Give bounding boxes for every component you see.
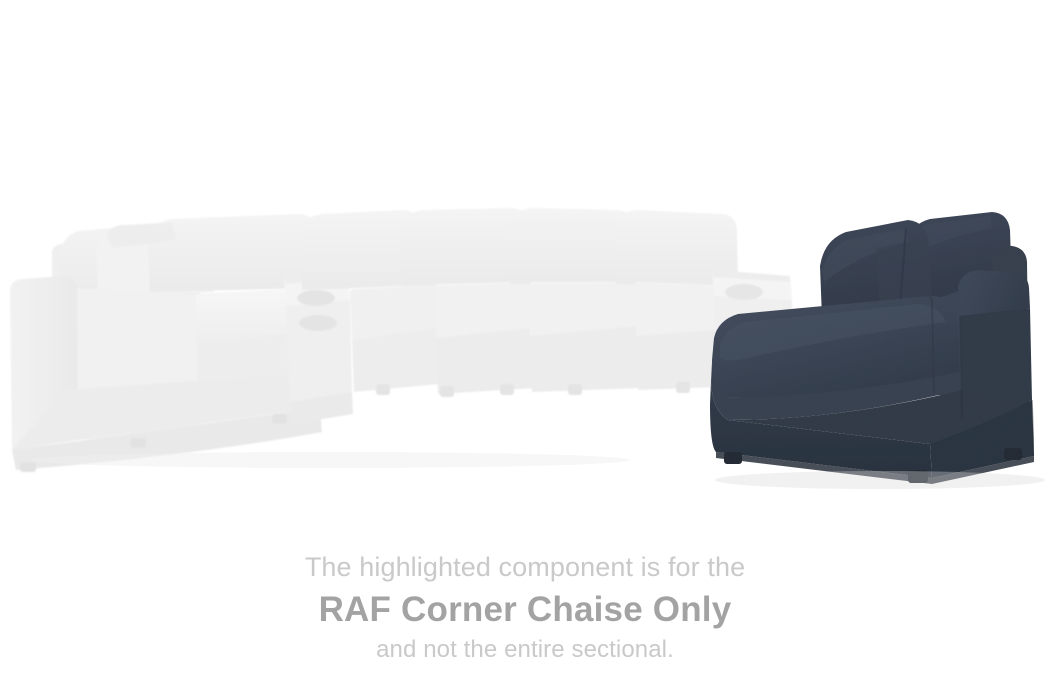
ghosted-sectional-group bbox=[10, 208, 794, 472]
chaise-foot-front bbox=[724, 452, 742, 464]
caption-block: The highlighted component is for the RAF… bbox=[0, 548, 1050, 667]
chaise-ground-shadow bbox=[715, 471, 1045, 489]
module-console-left bbox=[284, 270, 353, 424]
chaise-foot-rear bbox=[1004, 448, 1022, 460]
product-callout-page: The highlighted component is for the RAF… bbox=[0, 0, 1050, 700]
module-laf-loveseat bbox=[10, 214, 322, 472]
caption-line-bottom: and not the entire sectional. bbox=[0, 633, 1050, 667]
caption-line-top: The highlighted component is for the bbox=[0, 548, 1050, 586]
caption-line-main: RAF Corner Chaise Only bbox=[0, 586, 1050, 633]
chaise-armrest-top bbox=[958, 270, 1030, 316]
sectional-sofa-illustration bbox=[0, 0, 1050, 540]
module-raf-corner-chaise-highlighted bbox=[710, 212, 1034, 484]
ghost-ground-shadow bbox=[30, 452, 630, 468]
